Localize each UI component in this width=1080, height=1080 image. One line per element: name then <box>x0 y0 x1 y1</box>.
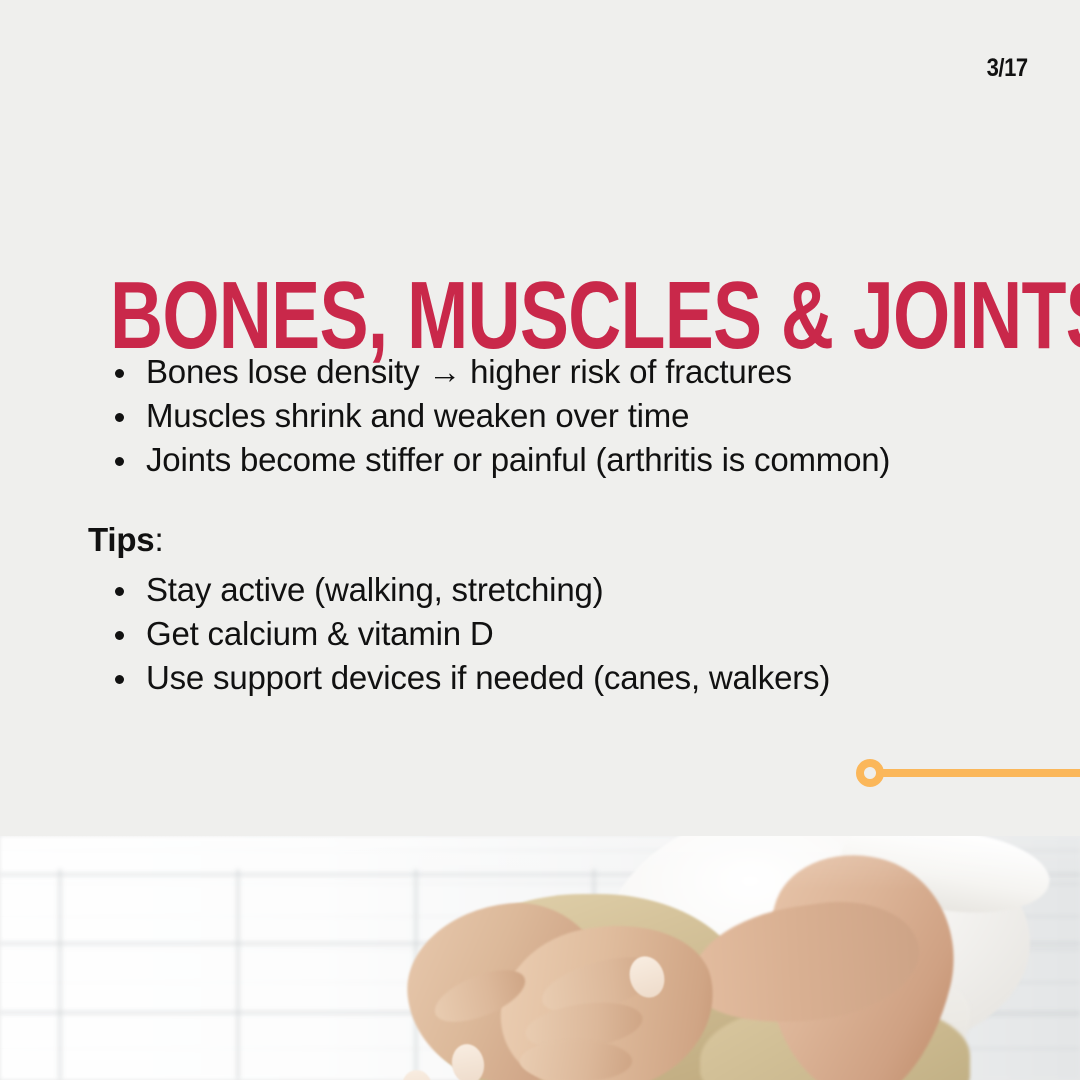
finger <box>520 1040 632 1080</box>
list-item-text: Bones lose density → higher risk of frac… <box>146 353 792 390</box>
tips-heading-colon: : <box>154 521 163 558</box>
bullet-dot-icon <box>115 675 124 684</box>
page-title: BONES, MUSCLES & JOINTS <box>110 268 1080 364</box>
body-content: Bones lose density → higher risk of frac… <box>88 350 948 700</box>
bullet-dot-icon <box>115 631 124 640</box>
accent-line <box>880 769 1080 777</box>
bullet-dot-icon <box>115 587 124 596</box>
list-item: Stay active (walking, stretching) <box>88 568 948 612</box>
list-item-text: Muscles shrink and weaken over time <box>146 397 689 434</box>
list-item: Get calcium & vitamin D <box>88 612 948 656</box>
list-item-text: Use support devices if needed (canes, wa… <box>146 659 830 696</box>
tips-list: Stay active (walking, stretching) Get ca… <box>88 568 948 700</box>
list-item-text: Stay active (walking, stretching) <box>146 571 603 608</box>
tips-heading-label: Tips <box>88 521 154 558</box>
slide-canvas: 3/17 BONES, MUSCLES & JOINTS Bones lose … <box>0 0 1080 1080</box>
list-item-text: Joints become stiffer or painful (arthri… <box>146 441 890 478</box>
list-item: Use support devices if needed (canes, wa… <box>88 656 948 700</box>
bullet-dot-icon <box>115 457 124 466</box>
facts-list: Bones lose density → higher risk of frac… <box>88 350 948 482</box>
bullet-dot-icon <box>115 413 124 422</box>
list-item: Joints become stiffer or painful (arthri… <box>88 438 948 482</box>
page-indicator: 3/17 <box>987 54 1028 83</box>
bullet-dot-icon <box>115 369 124 378</box>
accent-pin-decoration <box>856 759 1080 787</box>
list-item: Bones lose density → higher risk of frac… <box>88 350 948 394</box>
list-item: Muscles shrink and weaken over time <box>88 394 948 438</box>
knee-pain-photo <box>0 836 1080 1080</box>
tips-heading: Tips: <box>88 518 948 562</box>
list-item-text: Get calcium & vitamin D <box>146 615 494 652</box>
